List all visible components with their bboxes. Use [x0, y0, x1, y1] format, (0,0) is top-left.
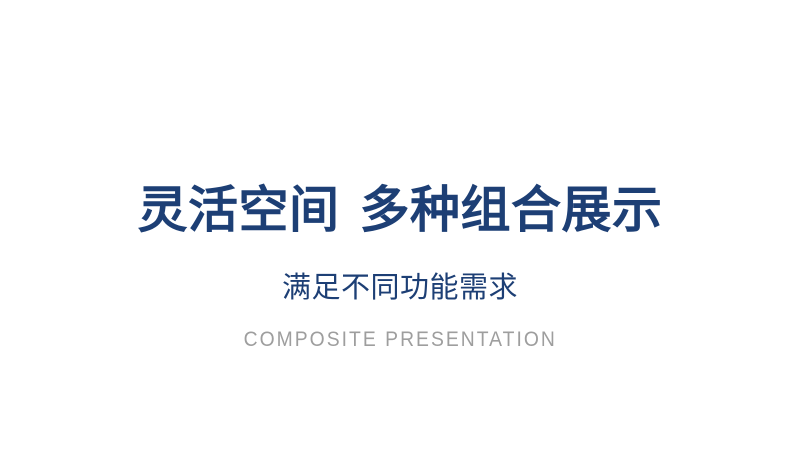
page-subtitle: 满足不同功能需求 — [282, 264, 518, 306]
slide-canvas: 灵活空间多种组合展示 满足不同功能需求 COMPOSITE PRESENTATI… — [0, 0, 800, 450]
page-title: 灵活空间多种组合展示 — [138, 178, 663, 242]
page-title-part-2: 多种组合展示 — [360, 181, 663, 239]
page-title-part-1: 灵活空间 — [138, 181, 340, 239]
title-block: 灵活空间多种组合展示 满足不同功能需求 COMPOSITE PRESENTATI… — [0, 178, 800, 352]
page-subtitle-english: COMPOSITE PRESENTATION — [243, 328, 556, 352]
